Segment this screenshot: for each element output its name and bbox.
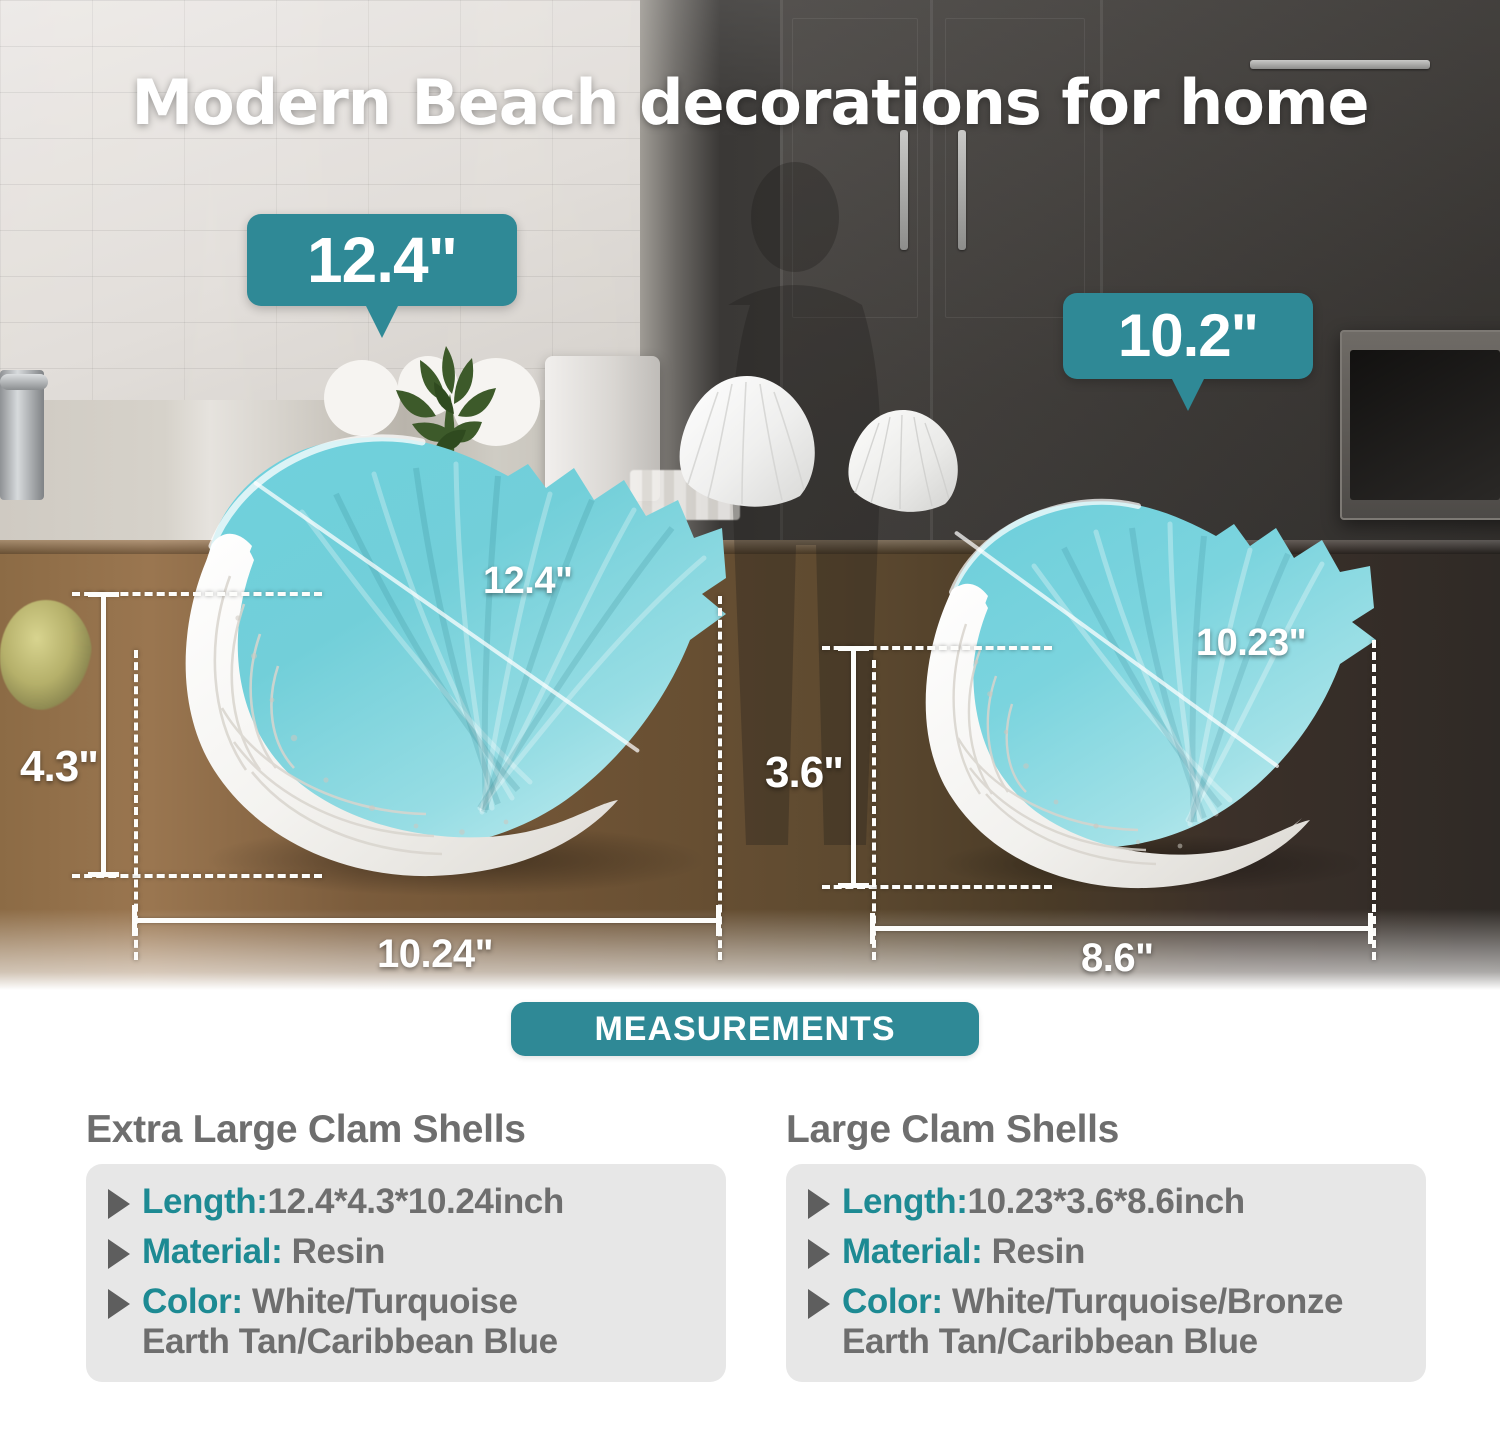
- callout-tail: [365, 304, 399, 338]
- spec-row-color: Color: White/Turquoise Earth Tan/Caribbe…: [100, 1282, 710, 1362]
- cabinet-handle: [900, 130, 908, 250]
- spec-key-length: Length:: [842, 1182, 968, 1221]
- triangle-bullet-icon: [108, 1189, 130, 1219]
- spec-card-large-clam-shells: Large Clam Shells Length:10.23*3.6*8.6in…: [786, 1108, 1426, 1382]
- spec-value-length: 10.23*3.6*8.6inch: [968, 1182, 1245, 1221]
- callout-tail: [1171, 377, 1205, 411]
- spec-row-material: Material: Resin: [100, 1232, 710, 1272]
- lg-right-edge-guide: [1372, 640, 1376, 960]
- fruit-bowl: [0, 600, 92, 710]
- spec-list-large: Length:10.23*3.6*8.6inch Material: Resin…: [786, 1164, 1426, 1382]
- clam-shell-bowl-large: [884, 480, 1404, 890]
- lg-width-label: 8.6": [1081, 936, 1154, 981]
- clam-shell-bowl-extra-large: [126, 408, 746, 888]
- callout-badge-large-value: 10.2": [1118, 302, 1258, 369]
- spec-row-length: Length:12.4*4.3*10.24inch: [100, 1182, 710, 1222]
- lg-width-line: [872, 926, 1372, 931]
- xl-height-line: [101, 592, 106, 876]
- spec-value-length: 12.4*4.3*10.24inch: [268, 1182, 564, 1221]
- spec-card-extra-large-clam-shells: Extra Large Clam Shells Length:12.4*4.3*…: [86, 1108, 726, 1382]
- triangle-bullet-icon: [108, 1239, 130, 1269]
- spec-title-large: Large Clam Shells: [786, 1108, 1426, 1152]
- spec-row-length: Length:10.23*3.6*8.6inch: [800, 1182, 1410, 1222]
- product-infographic: 12.4" 4.3" 10.24" 10.23" 3.6" 8.6" 12.4"…: [0, 0, 1500, 1446]
- microwave-window: [1350, 350, 1500, 500]
- spec-key-color: Color:: [142, 1282, 243, 1321]
- callout-badge-large: 10.2": [1063, 293, 1313, 379]
- sink-faucet-arm: [0, 374, 48, 390]
- measurements-section-label: MEASUREMENTS: [511, 1002, 979, 1056]
- spec-title-extra-large: Extra Large Clam Shells: [86, 1108, 726, 1152]
- lg-height-line: [851, 646, 856, 887]
- lg-height-label: 3.6": [765, 748, 843, 798]
- page-title: Modern Beach decorations for home: [0, 66, 1500, 139]
- xl-diagonal-label: 12.4": [483, 560, 572, 603]
- spec-value-material: Resin: [282, 1232, 385, 1271]
- triangle-bullet-icon: [108, 1289, 130, 1319]
- spec-key-length: Length:: [142, 1182, 268, 1221]
- spec-row-color: Color: White/Turquoise/Bronze Earth Tan/…: [800, 1282, 1410, 1362]
- xl-height-label: 4.3": [20, 742, 98, 792]
- spec-value-material: Resin: [982, 1232, 1085, 1271]
- xl-width-label: 10.24": [377, 932, 493, 977]
- spec-row-material: Material: Resin: [800, 1232, 1410, 1272]
- spec-list-extra-large: Length:12.4*4.3*10.24inch Material: Resi…: [86, 1164, 726, 1382]
- triangle-bullet-icon: [808, 1239, 830, 1269]
- spec-key-material: Material:: [142, 1232, 282, 1271]
- xl-width-line: [134, 918, 720, 923]
- spec-key-color: Color:: [842, 1282, 943, 1321]
- callout-badge-extra-large: 12.4": [247, 214, 517, 306]
- triangle-bullet-icon: [808, 1189, 830, 1219]
- triangle-bullet-icon: [808, 1289, 830, 1319]
- hero-photo-area: 12.4" 4.3" 10.24" 10.23" 3.6" 8.6" 12.4"…: [0, 0, 1500, 990]
- cabinet-handle: [958, 130, 966, 250]
- callout-badge-extra-large-value: 12.4": [307, 224, 457, 296]
- measurements-label-text: MEASUREMENTS: [594, 1010, 895, 1049]
- spec-key-material: Material:: [842, 1232, 982, 1271]
- lg-diagonal-label: 10.23": [1196, 622, 1306, 665]
